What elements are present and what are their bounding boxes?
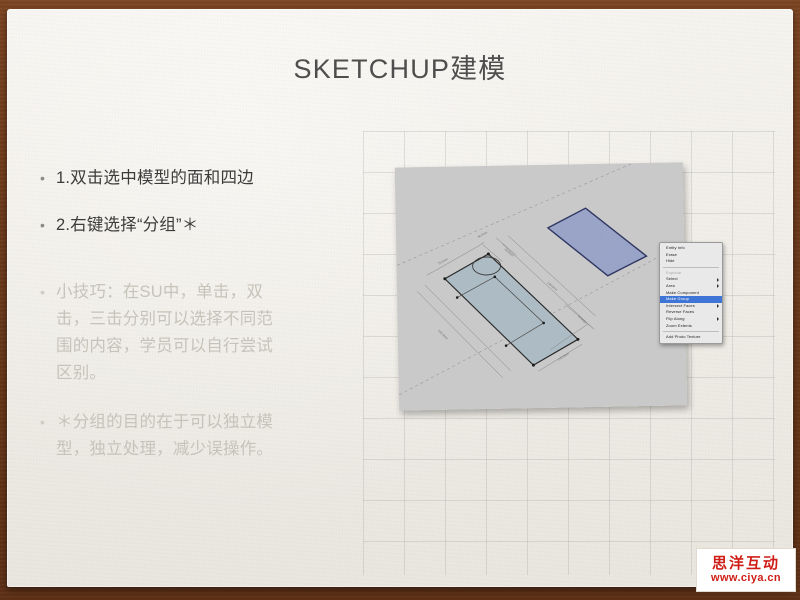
menu-separator xyxy=(663,267,719,268)
menu-item-select[interactable]: Select xyxy=(660,276,722,283)
submenu-arrow-icon xyxy=(717,278,719,282)
menu-item-explode: Explode xyxy=(660,270,722,277)
menu-item-add-photo-texture[interactable]: Add Photo Texture xyxy=(660,334,722,341)
note-line: 区别。 xyxy=(56,364,106,382)
menu-item-intersect-faces[interactable]: Intersect Faces xyxy=(660,303,722,310)
page-title: SKETCHUP建模 xyxy=(7,47,793,86)
menu-item-make-group[interactable]: Make Group xyxy=(660,296,722,303)
bullet-list: • 1.双击选中模型的面和四边 • 2.右键选择“分组”＊ • 小技巧：在SU中… xyxy=(40,165,345,483)
note-line: 围的内容，学员可以自行尝试 xyxy=(56,337,273,355)
bullet-text: 1.双击选中模型的面和四边 xyxy=(56,165,345,192)
watermark-brand: 思洋互动 xyxy=(712,555,780,572)
bullet-marker-icon: • xyxy=(40,212,56,239)
sketchup-model-drawing: 75.0mm 40.0mm 30.0mm 100.0mm 160.0mm 140… xyxy=(395,162,687,410)
sketchup-canvas: 75.0mm 40.0mm 30.0mm 100.0mm 160.0mm 140… xyxy=(395,162,687,410)
canvas-background xyxy=(395,162,687,410)
note-text: ＊分组的目的在于可以独立模 型，独立处理，减少误操作。 xyxy=(56,409,345,463)
sketchup-screenshot: 75.0mm 40.0mm 30.0mm 100.0mm 160.0mm 140… xyxy=(395,162,687,410)
menu-item-erase[interactable]: Erase xyxy=(660,252,722,259)
bullet-marker-icon: • xyxy=(40,279,56,306)
list-item-note: • ＊分组的目的在于可以独立模 型，独立处理，减少误操作。 xyxy=(40,409,345,463)
bullet-marker-icon: • xyxy=(40,165,56,192)
list-item: • 1.双击选中模型的面和四边 xyxy=(40,165,345,192)
menu-item-label: Area xyxy=(666,283,675,288)
note-line: 击，三击分别可以选择不同范 xyxy=(56,310,273,328)
bullet-marker-icon: • xyxy=(40,409,56,436)
bullet-text: 2.右键选择“分组”＊ xyxy=(56,212,345,239)
menu-item-zoom-extents[interactable]: Zoom Extents xyxy=(660,323,722,330)
menu-item-label: Intersect Faces xyxy=(666,303,695,308)
watermark-url: www.ciya.cn xyxy=(711,572,781,585)
slide-root: SKETCHUP建模 • 1.双击选中模型的面和四边 • 2.右键选择“分组”＊… xyxy=(0,0,800,600)
menu-item-label: Select xyxy=(666,276,678,281)
menu-item-hide[interactable]: Hide xyxy=(660,258,722,265)
note-line: ＊分组的目的在于可以独立模 xyxy=(56,413,273,431)
note-line: 小技巧：在SU中，单击，双 xyxy=(56,283,263,301)
watermark: 思洋互动 www.ciya.cn xyxy=(696,548,796,592)
menu-item-label: Flip Along xyxy=(666,316,685,321)
menu-separator xyxy=(663,331,719,332)
submenu-arrow-icon xyxy=(717,304,719,308)
menu-item-entity-info[interactable]: Entity Info xyxy=(660,245,722,252)
list-item-note: • 小技巧：在SU中，单击，双 击，三击分别可以选择不同范 围的内容，学员可以自… xyxy=(40,279,345,387)
menu-item-make-component[interactable]: Make Component xyxy=(660,290,722,297)
note-line: 型，独立处理，减少误操作。 xyxy=(56,440,273,458)
submenu-arrow-icon xyxy=(717,317,719,321)
menu-item-reverse-faces[interactable]: Reverse Faces xyxy=(660,309,722,316)
menu-item-area[interactable]: Area xyxy=(660,283,722,290)
menu-item-flip-along[interactable]: Flip Along xyxy=(660,316,722,323)
context-menu[interactable]: Entity Info Erase Hide Explode Select Ar… xyxy=(659,242,723,344)
submenu-arrow-icon xyxy=(717,284,719,288)
slide-paper: SKETCHUP建模 • 1.双击选中模型的面和四边 • 2.右键选择“分组”＊… xyxy=(7,9,793,587)
note-text: 小技巧：在SU中，单击，双 击，三击分别可以选择不同范 围的内容，学员可以自行尝… xyxy=(56,279,345,387)
list-item: • 2.右键选择“分组”＊ xyxy=(40,212,345,239)
